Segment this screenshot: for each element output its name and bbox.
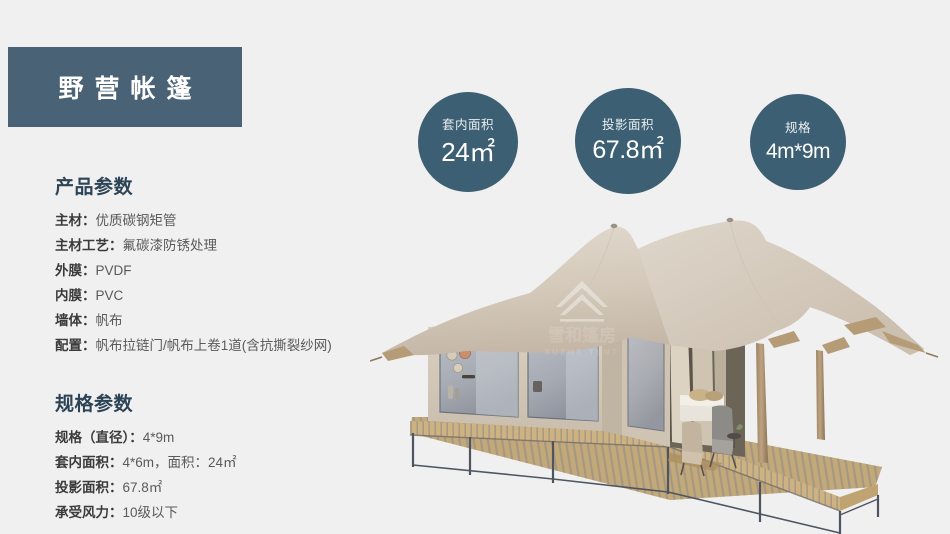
spec-row: 外膜：PVDF — [55, 258, 385, 283]
spec-key: 外膜： — [55, 263, 96, 278]
spec-key: 投影面积： — [55, 480, 123, 495]
spec-value: 优质碳钢矩管 — [96, 213, 177, 228]
spec-value: 10级以下 — [123, 505, 179, 520]
page-title: 野营帐篷 — [8, 47, 242, 127]
spec-row: 套内面积：4*6m，面积：24㎡ — [55, 450, 385, 475]
spec-row: 主材工艺：氟碳漆防锈处理 — [55, 233, 385, 258]
product-spec-page: 野营帐篷 产品参数 主材：优质碳钢矩管 主材工艺：氟碳漆防锈处理 外膜：PVDF… — [0, 0, 950, 534]
spec-row: 承受风力：10级以下 — [55, 500, 385, 525]
spec-value: PVDF — [96, 263, 132, 278]
stat-badge-dimensions: 规格 4m*9m — [750, 94, 846, 190]
spec-key: 主材： — [55, 213, 96, 228]
stat-badge-label: 投影面积 — [602, 119, 654, 132]
stat-badge-label: 套内面积 — [442, 119, 494, 132]
spec-key: 配置： — [55, 338, 96, 353]
spec-row: 主材：优质碳钢矩管 — [55, 208, 385, 233]
stat-badge-interior-area: 套内面积 24㎡ — [418, 92, 518, 192]
spec-row: 墙体：帆布 — [55, 308, 385, 333]
page-title-bar: 野营帐篷 — [8, 47, 242, 127]
specification-panel: 产品参数 主材：优质碳钢矩管 主材工艺：氟碳漆防锈处理 外膜：PVDF 内膜：P… — [55, 172, 385, 525]
spec-value: 4*9m — [143, 430, 175, 445]
section-heading-product-parameters: 产品参数 — [55, 172, 385, 199]
spec-value: 4*6m，面积：24㎡ — [123, 455, 237, 470]
watermark-en-text: XUEHE TENT — [545, 348, 620, 357]
spec-row: 内膜：PVC — [55, 283, 385, 308]
spec-value: PVC — [96, 288, 124, 303]
spec-value: 67.8㎡ — [123, 480, 163, 495]
spec-value: 帆布 — [96, 313, 123, 328]
spec-key: 承受风力： — [55, 505, 123, 520]
spec-key: 内膜： — [55, 288, 96, 303]
spec-key: 墙体： — [55, 313, 96, 328]
tent-render-illustration: 雪和篷房 XUEHE TENT — [370, 195, 950, 534]
spec-row: 规格（直径）：4*9m — [55, 425, 385, 450]
spec-value: 氟碳漆防锈处理 — [123, 238, 218, 253]
spec-row: 配置：帆布拉链门/帆布上卷1道(含抗撕裂纱网) — [55, 333, 385, 358]
section-heading-size-parameters: 规格参数 — [55, 389, 385, 416]
spec-key: 主材工艺： — [55, 238, 123, 253]
stat-badge-label: 规格 — [785, 122, 811, 135]
watermark-cn-text: 雪和篷房 — [548, 325, 616, 345]
spec-row: 投影面积：67.8㎡ — [55, 475, 385, 500]
stat-badge-value: 24㎡ — [441, 139, 494, 165]
stat-badge-value: 4m*9m — [766, 141, 830, 162]
stat-badge-value: 67.8㎡ — [592, 138, 663, 163]
spec-key: 套内面积： — [55, 455, 123, 470]
stat-badge-projected-area: 投影面积 67.8㎡ — [575, 88, 681, 194]
spec-value: 帆布拉链门/帆布上卷1道(含抗撕裂纱网) — [96, 338, 332, 353]
spec-key: 规格（直径）： — [55, 430, 143, 445]
